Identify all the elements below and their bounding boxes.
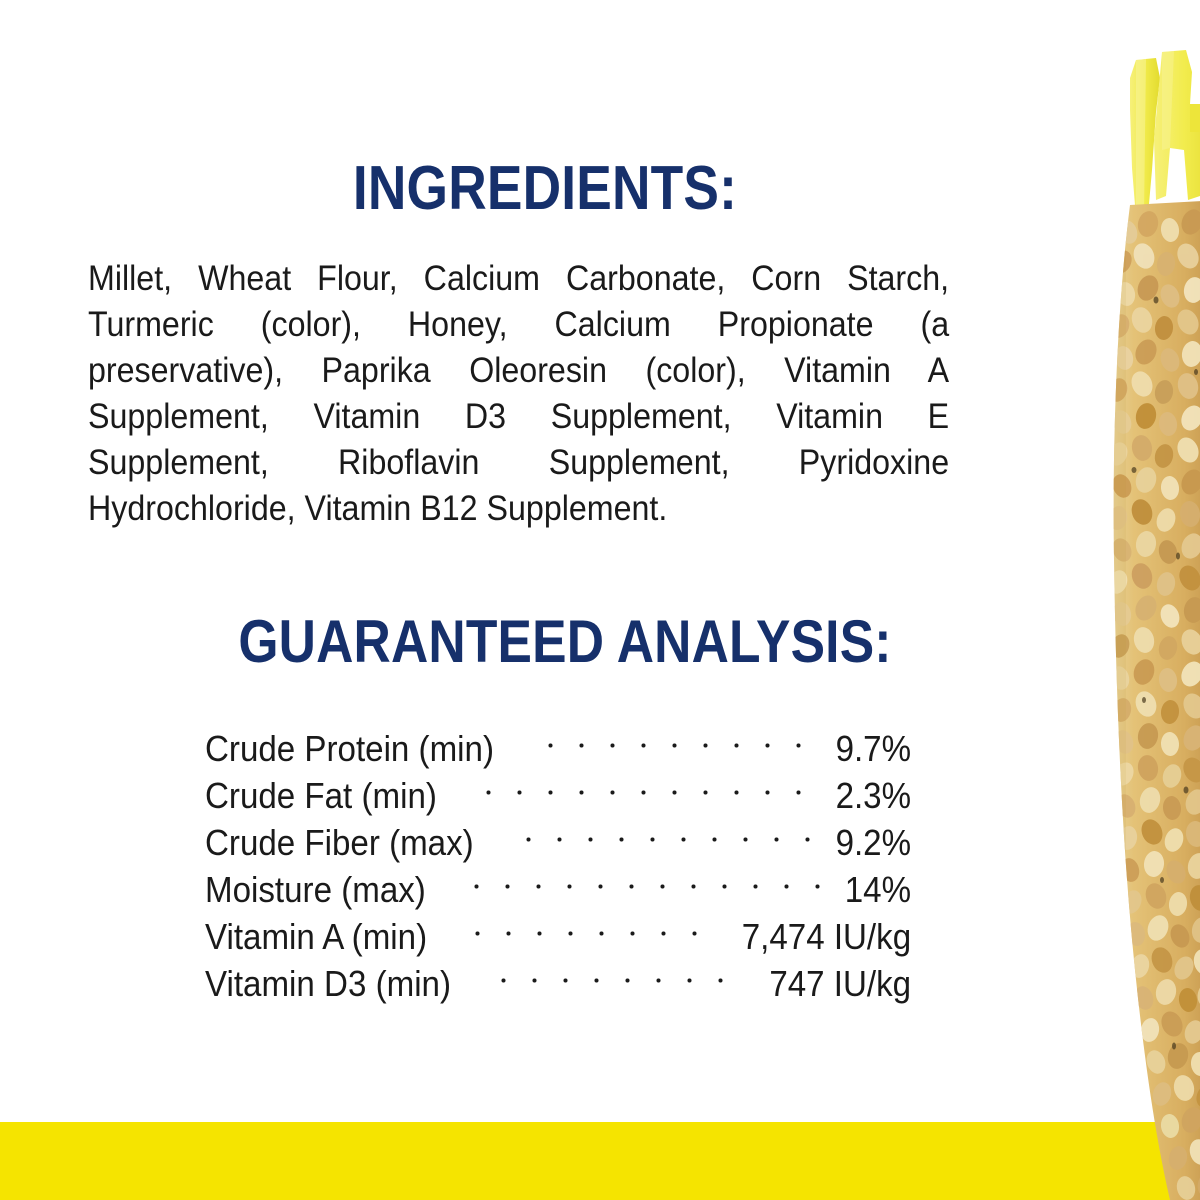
dot-leader: [467, 761, 819, 808]
millet-spray-illustration: [1100, 0, 1200, 1200]
analysis-row: Crude Protein (min) 9.7%: [205, 714, 911, 761]
nutrient-value: 9.2%: [836, 819, 911, 866]
dot-leader: [507, 808, 819, 855]
ingredients-heading: INGREDIENTS:: [76, 158, 1013, 220]
dot-leader: [456, 902, 716, 949]
yellow-plastic-clip: [1130, 50, 1200, 218]
dot-leader: [529, 714, 819, 761]
guaranteed-analysis-table: Crude Protein (min) 9.7% Crude Fat (min)…: [205, 714, 911, 996]
guaranteed-analysis-heading: GUARANTEED ANALYSIS:: [79, 612, 1051, 672]
pet-food-label-panel: INGREDIENTS: Millet, Wheat Flour, Calciu…: [0, 0, 1200, 1200]
nutrient-name: Crude Protein (min): [205, 725, 494, 772]
nutrient-name: Moisture (max): [205, 866, 426, 913]
nutrient-name: Crude Fiber (max): [205, 819, 474, 866]
nutrient-name: Vitamin D3 (min): [205, 960, 451, 1007]
nutrient-value: 2.3%: [836, 772, 911, 819]
ingredients-body-text: Millet, Wheat Flour, Calcium Carbonate, …: [88, 256, 949, 532]
nutrient-value: 9.7%: [836, 725, 911, 772]
dot-leader: [455, 855, 829, 902]
nutrient-name: Crude Fat (min): [205, 772, 437, 819]
seed-specks: [1132, 297, 1200, 1114]
label-text-column: INGREDIENTS: Millet, Wheat Flour, Calciu…: [0, 0, 1060, 1200]
millet-seed-body: [1100, 195, 1200, 1200]
nutrient-value: 14%: [845, 866, 911, 913]
millet-spray-product-image: [1100, 0, 1200, 1200]
nutrient-name: Vitamin A (min): [205, 913, 427, 960]
nutrient-value: 7,474 IU/kg: [742, 913, 911, 960]
dot-leader: [482, 949, 747, 996]
nutrient-value: 747 IU/kg: [769, 960, 911, 1007]
